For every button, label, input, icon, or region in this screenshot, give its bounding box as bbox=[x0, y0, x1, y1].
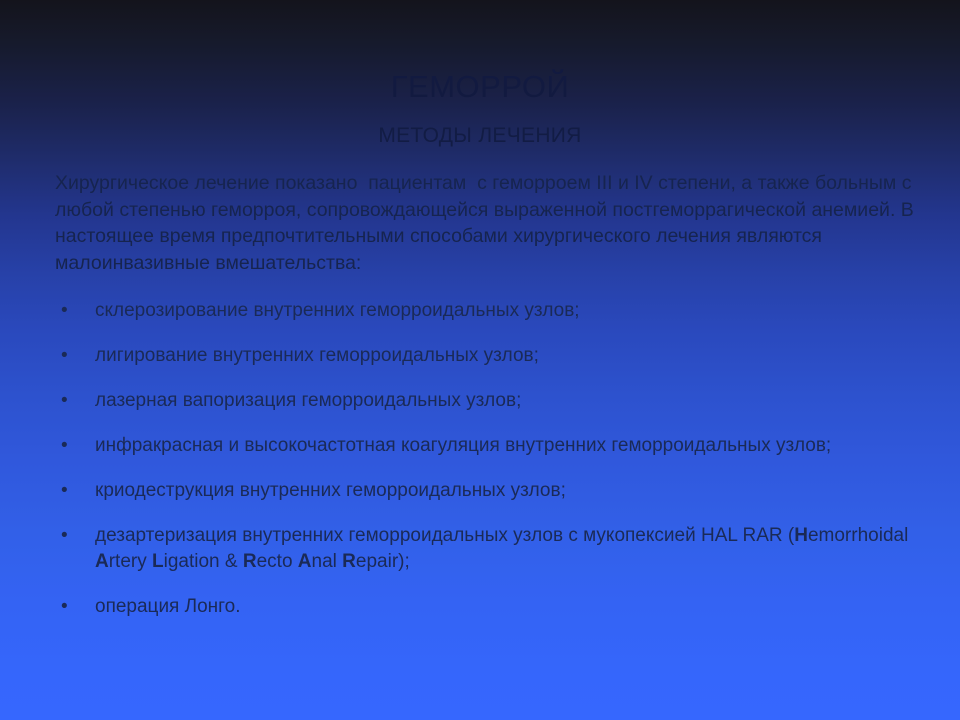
list-item: •лазерная вапоризация геморроидальных уз… bbox=[55, 388, 925, 414]
list-item: •инфракрасная и высокочастотная коагуляц… bbox=[55, 433, 925, 459]
slide-subtitle: МЕТОДЫ ЛЕЧЕНИЯ bbox=[0, 124, 960, 147]
list-item-label: криодеструкция внутренних геморроидальны… bbox=[95, 480, 566, 501]
slide-body: Хирургическое лечение показано пациентам… bbox=[55, 170, 925, 620]
list-item-label: дезартеризация внутренних геморроидальны… bbox=[95, 525, 914, 572]
list-item: •лигирование внутренних геморроидальных … bbox=[55, 343, 925, 369]
bullet-point-icon: • bbox=[61, 343, 68, 369]
bullet-point-icon: • bbox=[61, 478, 68, 504]
presentation-slide: ГЕМОРРОЙ МЕТОДЫ ЛЕЧЕНИЯ Хирургическое ле… bbox=[0, 0, 960, 720]
list-item: •операция Лонго. bbox=[55, 594, 925, 620]
list-item-label: инфракрасная и высокочастотная коагуляци… bbox=[95, 435, 831, 456]
intro-paragraph: Хирургическое лечение показано пациентам… bbox=[55, 170, 925, 276]
bullet-point-icon: • bbox=[61, 298, 68, 324]
list-item: •криодеструкция внутренних геморроидальн… bbox=[55, 478, 925, 504]
list-item-label: операция Лонго. bbox=[95, 596, 241, 617]
bullet-point-icon: • bbox=[61, 433, 68, 459]
bullet-point-icon: • bbox=[61, 523, 68, 549]
list-item: •дезартеризация внутренних геморроидальн… bbox=[55, 523, 925, 575]
list-item: •склерозирование внутренних геморроидаль… bbox=[55, 298, 925, 324]
bullet-point-icon: • bbox=[61, 388, 68, 414]
list-item-label: лазерная вапоризация геморроидальных узл… bbox=[95, 390, 521, 411]
slide-title: ГЕМОРРОЙ bbox=[0, 70, 960, 104]
list-item-label: лигирование внутренних геморроидальных у… bbox=[95, 345, 539, 366]
bullet-list: •склерозирование внутренних геморроидаль… bbox=[55, 298, 925, 620]
bullet-point-icon: • bbox=[61, 594, 68, 620]
list-item-label: склерозирование внутренних геморроидальн… bbox=[95, 300, 580, 321]
